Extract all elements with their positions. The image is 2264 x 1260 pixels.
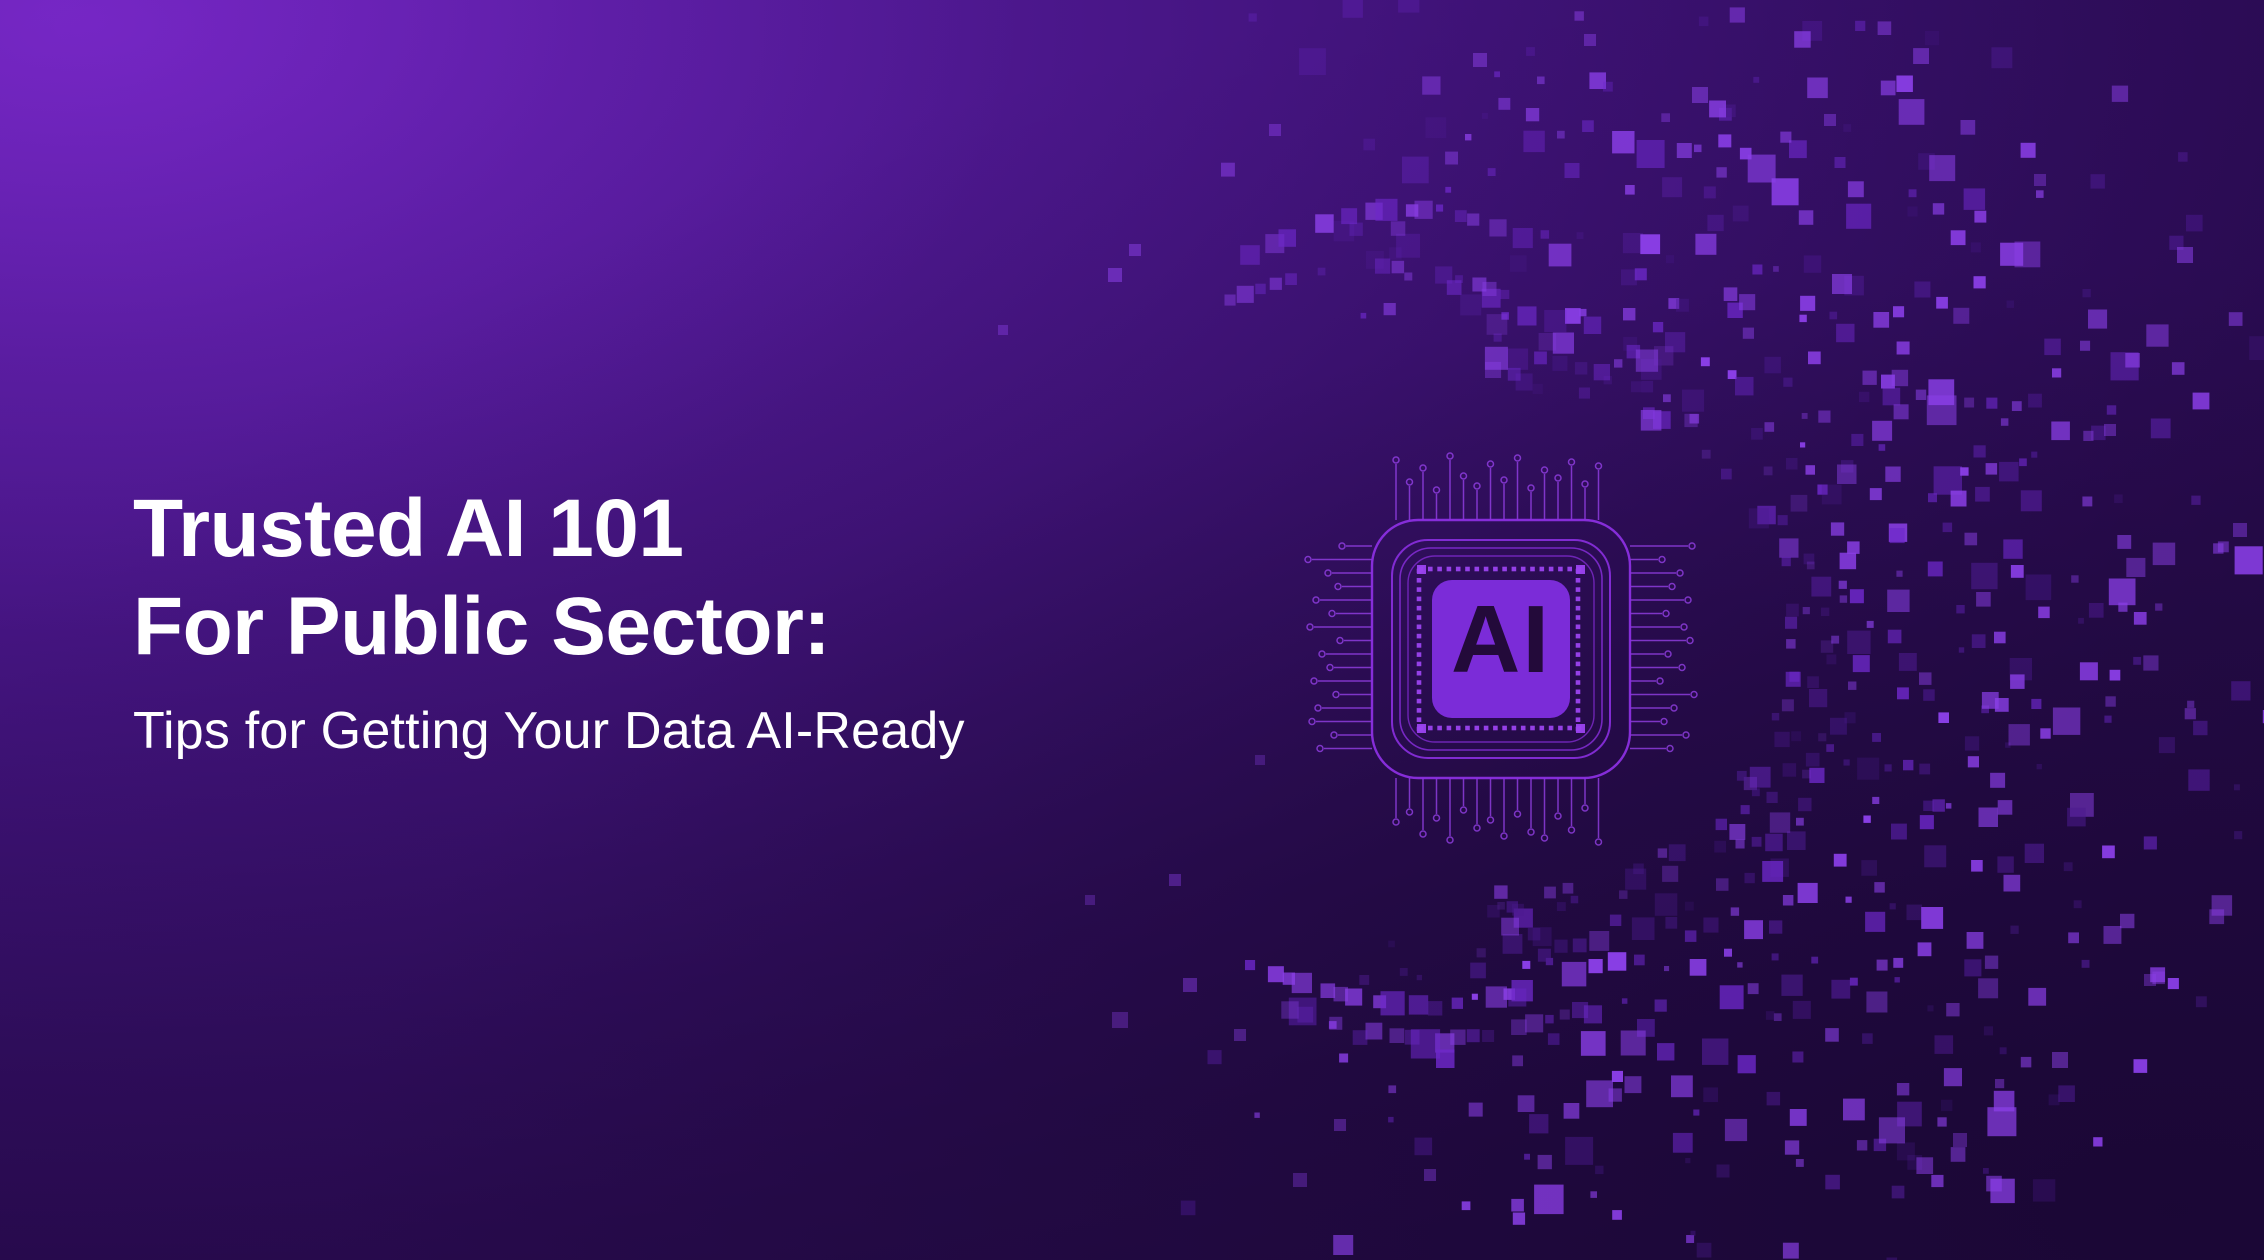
chip-border-dot [1576, 652, 1581, 657]
particle-square [1169, 874, 1181, 886]
particle-square [1809, 768, 1824, 783]
particle-square [1572, 1002, 1588, 1018]
particle-square [1749, 508, 1769, 528]
particle-square [1584, 34, 1596, 46]
particle-square [2000, 1047, 2007, 1054]
particle-square [1964, 188, 1986, 210]
particle-square [1782, 699, 1794, 711]
particle-square [1460, 294, 1481, 315]
particle-square [1785, 617, 1797, 629]
particle-square [1892, 370, 1908, 386]
chip-border-dot [1456, 726, 1461, 731]
particle-square [1694, 145, 1702, 153]
particle-square [2021, 490, 2042, 511]
particle-square [1513, 228, 1533, 248]
particle-square [1625, 185, 1635, 195]
particle-square [1534, 352, 1547, 365]
particle-square [2187, 701, 2194, 708]
particle-square [1848, 181, 1864, 197]
particle-square [1584, 317, 1601, 334]
particle-square [1762, 861, 1783, 882]
circuit-node [1331, 732, 1337, 738]
particle-square [1524, 1154, 1530, 1160]
chip-border-dot [1512, 726, 1517, 731]
particle-square [1716, 878, 1729, 891]
particle-square [1780, 132, 1791, 143]
particle-square [1544, 887, 1556, 899]
particle-square [1872, 421, 1892, 441]
circuit-node [1501, 833, 1507, 839]
circuit-node [1311, 678, 1317, 684]
particle-square [1831, 980, 1850, 999]
chip-border-dot [1567, 726, 1572, 731]
particle-square [2191, 496, 2200, 505]
particle-square [1986, 398, 1997, 409]
particle-square [1895, 977, 1900, 982]
particle-square [1806, 753, 1820, 767]
particle-square [2110, 670, 2121, 681]
particle-square [2012, 401, 2022, 411]
particle-square [1489, 219, 1506, 236]
particle-square [1765, 422, 1775, 432]
particle-square [1918, 942, 1932, 956]
particle-square [2177, 247, 2193, 263]
particle-square [1612, 131, 1634, 153]
chip-border-dot [1417, 680, 1422, 685]
particle-square [1498, 98, 1510, 110]
particle-square [1997, 856, 2013, 872]
particle-square [1960, 467, 1968, 475]
particle-square [1299, 48, 1326, 75]
particle-square [1634, 955, 1645, 966]
circuit-node [1569, 459, 1575, 465]
circuit-node [1681, 624, 1687, 630]
particle-square [1807, 78, 1828, 99]
circuit-node [1669, 584, 1675, 590]
particle-square [1292, 973, 1312, 993]
particle-square [1752, 265, 1762, 275]
particle-square [1467, 1029, 1480, 1042]
particle-square [1623, 308, 1635, 320]
chip-border-dot [1417, 699, 1422, 704]
chip-border-dot [1576, 708, 1581, 713]
circuit-node [1528, 485, 1534, 491]
particle-square [1538, 949, 1551, 962]
particle-square [1183, 978, 1197, 992]
chip-border-dot [1576, 671, 1581, 676]
particle-square [2082, 960, 2090, 968]
particle-square [1835, 157, 1846, 168]
particle-square [1938, 712, 1949, 723]
particle-square [1560, 1010, 1570, 1020]
circuit-node [1317, 746, 1323, 752]
particle-square [2196, 996, 2207, 1007]
particle-square [1655, 1000, 1667, 1012]
particle-square [1494, 885, 1507, 898]
particle-square [1897, 1083, 1909, 1095]
particle-square [1589, 959, 1603, 973]
particle-square [1665, 917, 1677, 929]
particle-square [1846, 204, 1871, 229]
circuit-node [1671, 705, 1677, 711]
particle-square [1890, 903, 1896, 909]
circuit-node [1542, 467, 1548, 473]
particle-square [1972, 634, 1986, 648]
particle-square [2104, 716, 2111, 723]
particle-square [1964, 398, 1974, 408]
particle-square [1390, 1028, 1405, 1043]
particle-square [1811, 957, 1818, 964]
particle-square [1714, 841, 1726, 853]
particle-square [1510, 255, 1527, 272]
particle-square [1455, 210, 1467, 222]
particle-square [1887, 590, 1909, 612]
particle-square [2172, 362, 2185, 375]
particle-square [2031, 699, 2041, 709]
particle-square [1786, 604, 1799, 617]
particle-square [1990, 773, 2005, 788]
circuit-node [1679, 665, 1685, 671]
particle-square [1786, 639, 1796, 649]
particle-square [1388, 941, 1395, 948]
particle-square [1575, 362, 1587, 374]
particle-square [1897, 687, 1909, 699]
particle-square [1991, 47, 2012, 68]
chip-border-dot [1576, 680, 1581, 685]
particle-square [1873, 312, 1889, 328]
chip-border-dot [1521, 567, 1526, 572]
chip-border-dot [1447, 726, 1452, 731]
particle-square [1541, 230, 1550, 239]
particle-square [2010, 674, 2025, 689]
particle-square [1853, 655, 1870, 672]
particle-square [1571, 896, 1579, 904]
particle-square [2193, 721, 2207, 735]
circuit-node [1685, 597, 1691, 603]
particle-square [1737, 771, 1747, 781]
particle-square [1891, 824, 1907, 840]
particle-square [2040, 728, 2050, 738]
particle-square [1279, 229, 1297, 247]
particle-square [2218, 541, 2229, 552]
particle-square [1562, 962, 1587, 987]
particle-square [1737, 962, 1742, 967]
particle-square [1811, 577, 1831, 597]
particle-square [2143, 655, 2158, 670]
particle-square [1398, 0, 1419, 13]
particle-square [1830, 718, 1847, 735]
particle-square [1783, 763, 1797, 777]
particle-square [1610, 915, 1621, 926]
particle-square [1731, 907, 1739, 915]
particle-square [1863, 371, 1877, 385]
circuit-node [1461, 473, 1467, 479]
particle-square [2231, 681, 2250, 700]
particle-square [1640, 234, 1660, 254]
particle-square [1392, 261, 1405, 274]
particle-square [1534, 1185, 1564, 1215]
particle-square [1923, 801, 1933, 811]
particle-square [1612, 1071, 1623, 1082]
circuit-node [1447, 453, 1453, 459]
particle-square [1554, 940, 1567, 953]
particle-square [1533, 384, 1543, 394]
chip-border-dot [1417, 625, 1422, 630]
particle-square [1874, 882, 1885, 893]
particle-square [1927, 1005, 1933, 1011]
particle-square [1928, 562, 1943, 577]
particle-square [1809, 689, 1827, 707]
particle-square [1943, 523, 1953, 533]
particle-square [1774, 1013, 1782, 1021]
particle-square [1621, 1031, 1646, 1056]
particle-square [1544, 310, 1566, 332]
particle-square [2229, 312, 2243, 326]
circuit-node [1677, 570, 1683, 576]
chip-border-dot [1576, 625, 1581, 630]
particle-square [2078, 618, 2084, 624]
chip-border-dot [1465, 567, 1470, 572]
particle-square [1608, 952, 1627, 971]
page-title-line-1: Trusted AI 101 [133, 480, 1133, 578]
circuit-node [1325, 570, 1331, 576]
particle-square [1946, 803, 1952, 809]
particle-square [1697, 1243, 1712, 1258]
particle-square [2034, 174, 2046, 186]
particle-square [1883, 388, 1901, 406]
particle-square [1751, 428, 1763, 440]
particle-square [1870, 488, 1882, 500]
chip-border-dot [1567, 567, 1572, 572]
particle-square [1388, 1085, 1396, 1093]
particle-square [1806, 465, 1816, 475]
chip-border-dot [1521, 726, 1526, 731]
chip-border-dot [1417, 708, 1422, 713]
particle-square [1865, 912, 1885, 932]
particle-square [2074, 900, 2082, 908]
particle-square [1994, 1091, 2015, 1112]
particle-square [1255, 755, 1265, 765]
particle-square [1830, 312, 1838, 320]
particle-square [1424, 1169, 1436, 1181]
particle-square [1834, 854, 1847, 867]
particle-square [1974, 276, 1986, 288]
chip-border-dot [1576, 643, 1581, 648]
particle-square [1691, 1231, 1696, 1236]
particle-square [1818, 411, 1830, 423]
particle-square [1450, 1030, 1465, 1045]
particle-square [1507, 349, 1528, 370]
chip-border-dot [1576, 615, 1581, 620]
page-subtitle: Tips for Getting Your Data AI-Ready [133, 700, 1133, 762]
chip-border-dot [1540, 726, 1545, 731]
particle-square [1445, 187, 1451, 193]
circuit-node [1596, 463, 1602, 469]
particle-square [1855, 21, 1865, 31]
particle-square [1577, 232, 1584, 239]
particle-square [1772, 178, 1799, 205]
particle-square [1565, 163, 1580, 178]
particle-square [1664, 966, 1669, 971]
particle-square [1822, 485, 1842, 505]
particle-square [1487, 314, 1508, 335]
chip-border-dot [1493, 567, 1498, 572]
particle-square [1999, 462, 2019, 482]
particle-square [1565, 1137, 1593, 1165]
particle-square [1614, 359, 1622, 367]
particle-square [1944, 1068, 1962, 1086]
particle-square [1735, 377, 1754, 396]
particle-square [2185, 708, 2196, 719]
particle-square [1469, 1103, 1483, 1117]
particle-square [1931, 1175, 1943, 1187]
particle-square [1402, 157, 1429, 184]
particle-square [1353, 1030, 1368, 1045]
particle-square [1436, 205, 1443, 212]
particle-square [2021, 1057, 2032, 1068]
particle-square [1729, 824, 1745, 840]
particle-square [1979, 808, 1999, 828]
particle-square [1877, 960, 1888, 971]
particle-square [1579, 388, 1590, 399]
particle-square [1826, 744, 1834, 752]
chip-border-dot [1428, 567, 1433, 572]
particle-square [1919, 764, 1930, 775]
particle-square [1785, 1140, 1799, 1154]
particle-square [2209, 909, 2224, 924]
particle-square [1622, 998, 1628, 1004]
particle-square [1501, 918, 1519, 936]
particle-square [1848, 682, 1856, 690]
particle-square [1255, 284, 1265, 294]
circuit-node [1309, 719, 1315, 725]
particle-square [1978, 978, 1998, 998]
particle-square [2134, 612, 2147, 625]
circuit-node [1528, 829, 1534, 835]
particle-square [1482, 113, 1488, 119]
particle-square [1779, 538, 1798, 557]
particle-square [1657, 1043, 1674, 1060]
particle-square [1767, 1092, 1781, 1106]
particle-square [1686, 1235, 1694, 1243]
particle-square [1837, 465, 1857, 485]
chip-border-dot [1417, 662, 1422, 667]
particle-square [2028, 394, 2042, 408]
circuit-node [1461, 807, 1467, 813]
particle-square [1343, 0, 1363, 18]
particle-square [1825, 1028, 1839, 1042]
particle-square [1919, 672, 1932, 685]
particle-square [1339, 1054, 1348, 1063]
chip-border-dot [1417, 671, 1422, 676]
chip-border-dot [1428, 726, 1433, 731]
circuit-node [1661, 719, 1667, 725]
particle-square [1995, 1079, 2004, 1088]
particle-square [1974, 211, 1986, 223]
particle-square [1589, 931, 1609, 951]
particle-square [1772, 953, 1779, 960]
circuit-node [1420, 465, 1426, 471]
particle-square [2083, 289, 2091, 297]
particle-square [1462, 1201, 1471, 1210]
particle-square [1730, 7, 1745, 22]
particle-square [2109, 579, 2136, 606]
headline-block: Trusted AI 101 For Public Sector: Tips f… [133, 480, 1133, 762]
circuit-node [1555, 475, 1561, 481]
circuit-node [1407, 479, 1413, 485]
particle-square [1765, 834, 1783, 852]
particle-square [1752, 837, 1762, 847]
particle-square [1254, 1113, 1259, 1118]
particle-square [2026, 575, 2052, 601]
circuit-node [1488, 461, 1494, 467]
particle-square [1844, 759, 1850, 765]
ai-chip-icon: AI [1290, 440, 1710, 860]
particle-square [1893, 958, 1903, 968]
circuit-node [1582, 481, 1588, 487]
particle-square [1388, 1117, 1394, 1123]
particle-square [1518, 1095, 1535, 1112]
particle-square [1435, 266, 1452, 283]
circuit-node [1659, 557, 1665, 563]
particle-square [1237, 286, 1254, 303]
particle-square [1929, 155, 1955, 181]
particle-square [1619, 890, 1628, 899]
particle-square [1642, 381, 1654, 393]
particle-square [1843, 124, 1851, 132]
particle-square [1976, 592, 1991, 607]
particle-square [1975, 487, 1990, 502]
particle-square [1965, 533, 1978, 546]
particle-square [1482, 1030, 1494, 1042]
particle-square [1641, 410, 1662, 431]
particle-square [1494, 334, 1502, 342]
particle-square [2000, 243, 2023, 266]
particle-square [1914, 282, 1930, 298]
particle-square [1964, 959, 1981, 976]
particle-square [1925, 31, 1939, 45]
particle-square [1428, 1001, 1442, 1015]
particle-square [1987, 1107, 2016, 1136]
particle-square [1928, 379, 1954, 405]
particle-square [1663, 394, 1671, 402]
particle-square [2188, 769, 2209, 790]
particle-square [2104, 424, 2116, 436]
particle-square [1472, 994, 1478, 1000]
particle-square [2031, 452, 2037, 458]
particle-square [2067, 808, 2086, 827]
particle-square [1800, 442, 1805, 447]
particle-square [2033, 1179, 2055, 1201]
particle-square [1827, 655, 1837, 665]
particle-square [1799, 210, 1814, 225]
circuit-node [1665, 651, 1671, 657]
particle-square [1924, 845, 1946, 867]
particle-square [1565, 308, 1581, 324]
particle-square [1341, 208, 1357, 224]
particle-square [1690, 414, 1700, 424]
particle-square [1666, 255, 1674, 263]
particle-square [1968, 756, 1979, 767]
particle-square [1361, 313, 1367, 319]
particle-square [1921, 907, 1943, 929]
particle-square [1528, 928, 1541, 941]
particle-square [1961, 120, 1976, 135]
particle-square [1473, 53, 1487, 67]
particle-square [1415, 201, 1433, 219]
particle-square [1594, 364, 1610, 380]
particle-square [1899, 99, 1925, 125]
